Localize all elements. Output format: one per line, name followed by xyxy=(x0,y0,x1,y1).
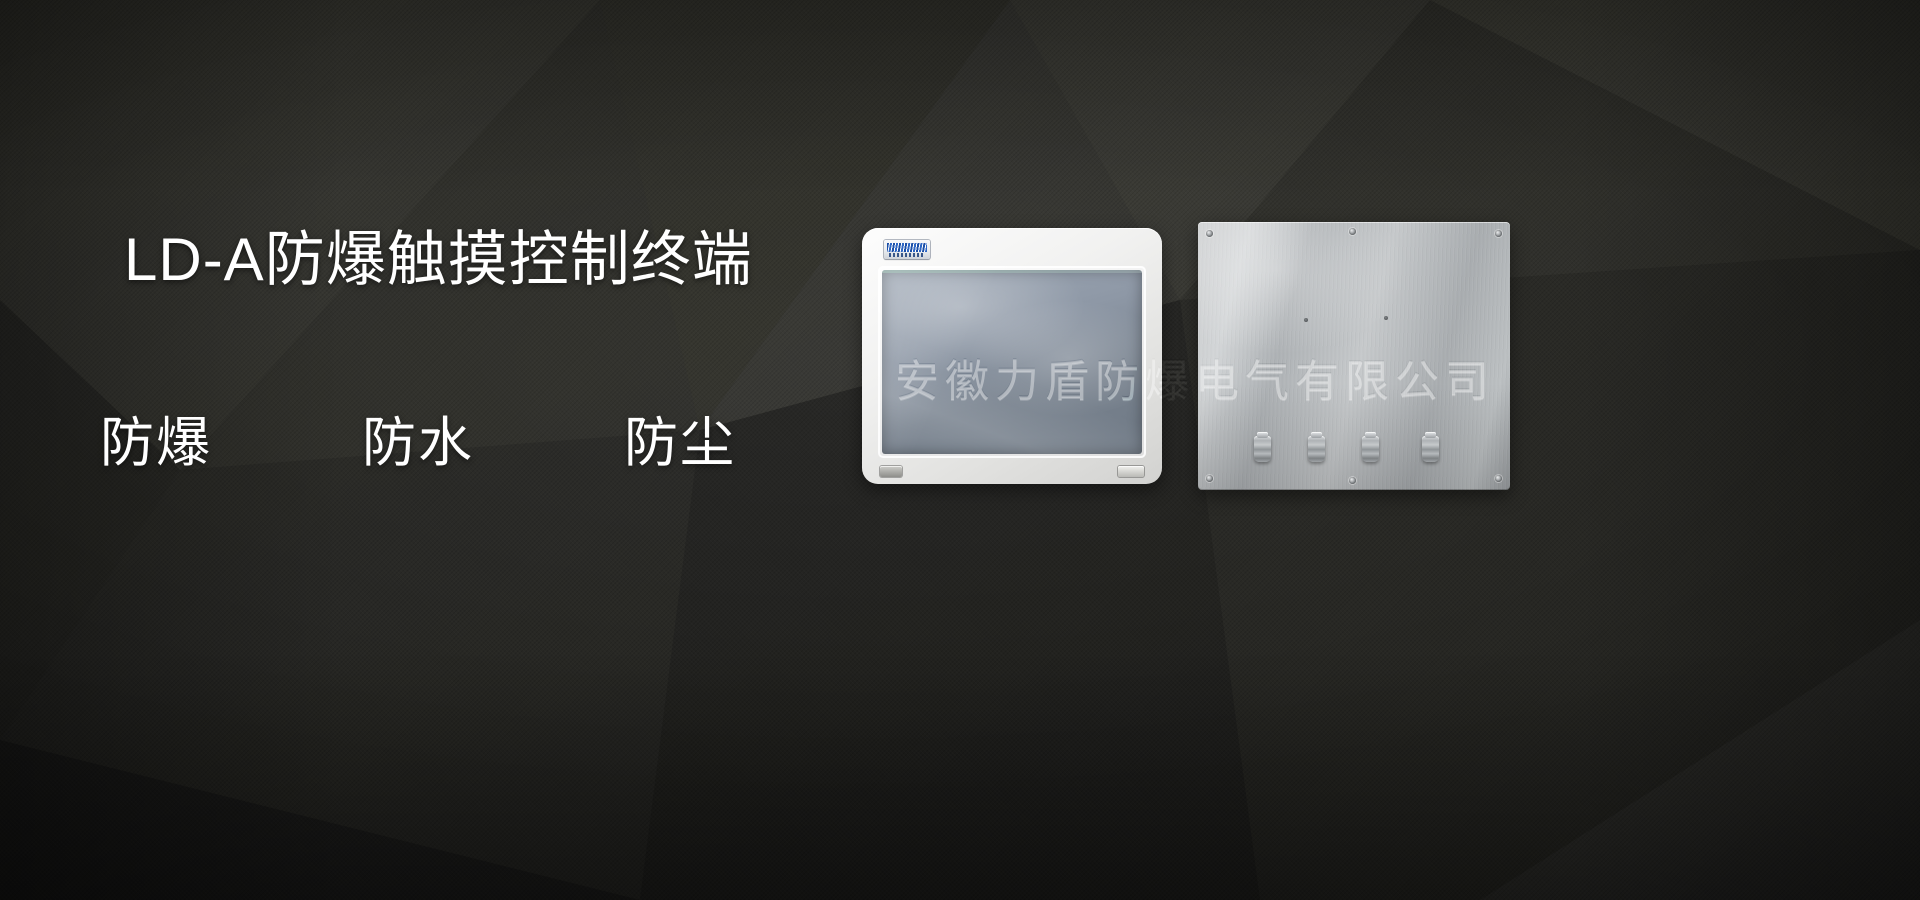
product-banner: LD-A防爆触摸控制终端 防爆 防水 防尘 xyxy=(0,0,1920,900)
screw-top-left xyxy=(1206,230,1213,237)
cable-gland-1 xyxy=(1254,436,1271,462)
back-panel-view xyxy=(1198,222,1510,490)
port-right xyxy=(1118,466,1144,477)
brand-badge-subtext xyxy=(889,253,925,257)
front-panel-view xyxy=(862,228,1162,484)
product-image-group xyxy=(862,222,1510,494)
metal-sheen xyxy=(1198,222,1510,490)
screw-bottom-right xyxy=(1495,475,1502,482)
touch-screen xyxy=(882,270,1142,454)
brand-badge-mark xyxy=(887,243,927,252)
feature-list: 防爆 防水 防尘 xyxy=(100,398,736,477)
screw-top-center xyxy=(1349,228,1356,235)
indicator-dot-2 xyxy=(1384,316,1388,320)
feature-item-waterproof: 防水 xyxy=(362,398,474,477)
screw-bottom-center xyxy=(1349,477,1356,484)
screen-reflection xyxy=(882,270,1142,454)
port-left xyxy=(880,466,902,477)
cable-gland-3 xyxy=(1362,436,1379,462)
cable-gland-2 xyxy=(1308,436,1325,462)
cable-gland-4 xyxy=(1422,436,1439,462)
page-title: LD-A防爆触摸控制终端 xyxy=(124,228,753,291)
screw-bottom-left xyxy=(1206,475,1213,482)
feature-item-dustproof: 防尘 xyxy=(624,398,736,477)
feature-item-explosion-proof: 防爆 xyxy=(100,398,212,477)
screw-top-right xyxy=(1495,230,1502,237)
indicator-dot-1 xyxy=(1304,318,1308,322)
brand-badge-icon xyxy=(884,240,930,259)
